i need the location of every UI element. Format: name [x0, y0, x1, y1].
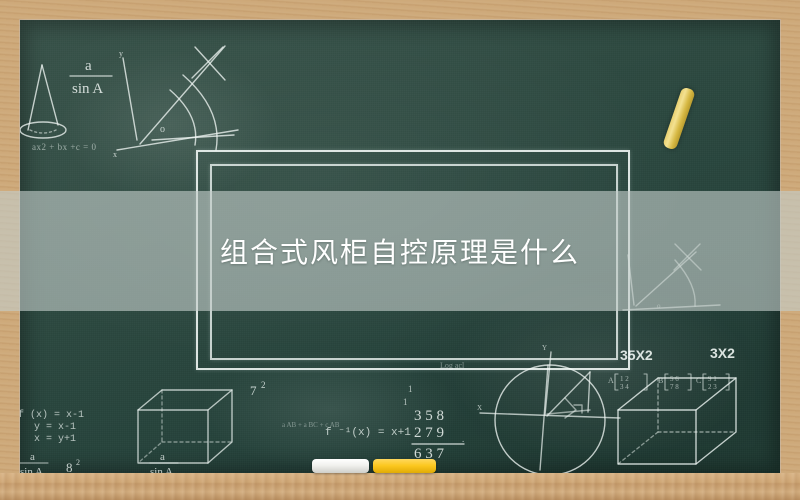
svg-text:7 8: 7 8	[670, 383, 679, 391]
svg-text:1 2: 1 2	[620, 375, 629, 383]
yellow-chalk	[373, 459, 436, 473]
fraction-bl-num: a	[30, 451, 35, 463]
matrix-header-2: 3X2	[710, 345, 735, 361]
matrix-label-a: A	[608, 376, 614, 385]
svg-text:3 4: 3 4	[620, 383, 629, 391]
eight-base: 8	[66, 460, 73, 473]
fraction-bm-den: sin A	[150, 466, 173, 473]
formula-quadratic: ax2 + bx +c = 0	[32, 142, 96, 152]
fraction-bl-den: sin A	[20, 466, 43, 473]
formula-fx-1: f (x) = x-1	[20, 409, 84, 421]
axis-label-x-right: X	[477, 404, 482, 412]
svg-text:5 6: 5 6	[670, 375, 679, 383]
svg-text:1: 1	[408, 384, 413, 394]
matrix-label-c: C	[696, 376, 701, 385]
chalkboard-card: a sin A	[0, 0, 800, 500]
formula-vector-sum: a AB + a BC + c AB	[282, 421, 340, 429]
page-title: 组合式风柜自控原理是什么	[220, 231, 580, 271]
svg-text:2 3: 2 3	[708, 383, 717, 391]
angle-label-left: o	[160, 124, 165, 135]
white-chalk	[312, 459, 369, 473]
exponent-seven: 7	[250, 383, 257, 398]
circle-vector-diagram	[480, 352, 620, 473]
axis-label-y-left: y	[119, 49, 123, 58]
fraction-bm-num: a	[160, 451, 165, 463]
exponent-seven-power: 2	[261, 380, 266, 390]
fraction-a-over-sinA-topleft: a sin A	[72, 58, 103, 97]
angle-diagram-left	[117, 46, 238, 150]
svg-text:1: 1	[403, 397, 408, 407]
title-band: 组合式风柜自控原理是什么	[0, 191, 800, 311]
formula-inverse: f ⁻¹(x) = x+1	[325, 427, 411, 439]
eight-exponent: 2	[76, 458, 80, 467]
formula-fx-2: y = x-1	[34, 422, 76, 433]
cone-drawing	[20, 65, 66, 138]
svg-text:.: .	[462, 434, 464, 444]
matrix-label-b: B	[658, 376, 663, 385]
cube-right	[618, 378, 736, 464]
cube-left	[138, 390, 232, 463]
svg-text:a: a	[85, 58, 92, 74]
chalk-ledge	[0, 473, 800, 500]
arith-row-1: 3 5 8	[414, 408, 444, 424]
formula-fx-3: x = y+1	[34, 434, 76, 445]
axis-label-x-left: x	[113, 150, 117, 159]
svg-text:9 1: 9 1	[708, 375, 717, 383]
arith-row-2: 2 7 9	[414, 425, 444, 441]
svg-text:sin A: sin A	[72, 81, 103, 97]
